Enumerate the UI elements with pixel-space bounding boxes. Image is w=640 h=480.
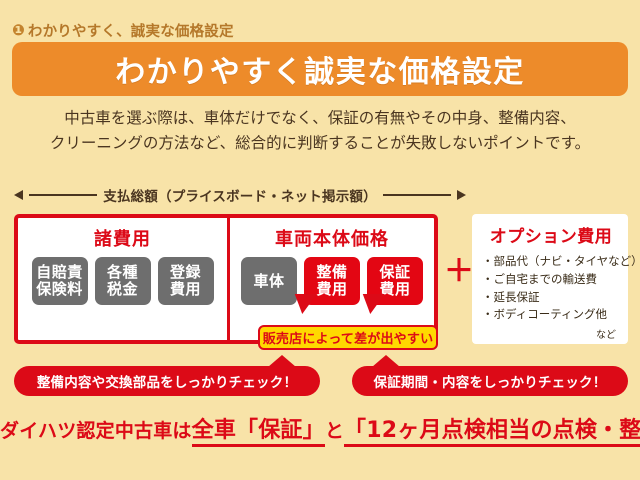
chip-line-1: 各種: [107, 264, 138, 281]
section-eyebrow-label: わかりやすく、誠実な価格設定: [28, 20, 234, 41]
bottom-conjunction: と: [325, 420, 344, 442]
maintenance-pointer-icon: [291, 294, 317, 314]
chip-line-1: 登録: [170, 264, 201, 281]
chip-line-2: 費用: [170, 281, 201, 298]
option-costs-list: ・部品代（ナビ・タイヤなど） ・ご自宅までの輸送費 ・延長保証 ・ボディコーティ…: [482, 253, 620, 324]
bottom-emphasis-warranty: 全車「保証」: [192, 418, 325, 447]
bottom-emphasis-inspection: 「12ヶ月点検相当の点検・整備」: [344, 418, 640, 447]
banner-pointer-icon: [372, 355, 400, 367]
chip-jibaiseki-insurance: 自賠責 保険料: [32, 257, 88, 305]
page-title: わかりやすく誠実な価格設定: [115, 47, 525, 91]
bottom-prefix: ダイハツ認定中古車は: [0, 420, 192, 442]
check-banner-maintenance: 整備内容や交換部品をしっかりチェック！: [14, 366, 320, 396]
chip-line-2: 税金: [107, 281, 138, 298]
intro-paragraph: 中古車を選ぶ際は、車体だけでなく、保証の有無やその中身、整備内容、 クリーニング…: [0, 106, 640, 156]
title-banner: わかりやすく誠実な価格設定: [12, 42, 628, 96]
intro-line-1: 中古車を選ぶ際は、車体だけでなく、保証の有無やその中身、整備内容、: [0, 106, 640, 131]
chip-line-1: 保証: [379, 264, 410, 281]
total-payment-arrow: 支払総額（プライスボード・ネット掲示額）: [14, 184, 466, 206]
arrow-right-head-icon: [457, 190, 466, 200]
chip-vehicle-body: 車体: [241, 257, 297, 305]
option-costs-card: オプション費用 ・部品代（ナビ・タイヤなど） ・ご自宅までの輸送費 ・延長保証 …: [472, 214, 628, 344]
section-number-badge: ❶: [12, 23, 25, 38]
infographic-page: ❶ わかりやすく、誠実な価格設定 わかりやすく誠実な価格設定 中古車を選ぶ際は、…: [0, 0, 640, 480]
chip-line-1: 車体: [253, 273, 284, 290]
option-costs-footnote: など: [482, 326, 620, 341]
check-banner-warranty: 保証期間・内容をしっかりチェック！: [352, 366, 628, 396]
arrow-rule-right: [383, 194, 451, 196]
section-eyebrow: ❶ わかりやすく、誠実な価格設定: [12, 20, 234, 41]
chip-various-taxes: 各種 税金: [95, 257, 151, 305]
dealer-variance-callout: 販売店によって差が出やすい: [258, 325, 438, 350]
option-costs-heading: オプション費用: [482, 222, 620, 247]
chip-line-2: 費用: [316, 281, 347, 298]
warranty-pointer-icon: [359, 294, 385, 314]
plus-icon: ＋: [444, 262, 466, 284]
list-item: ・延長保証: [482, 289, 620, 307]
vehicle-price-heading: 車両本体価格: [230, 225, 434, 251]
fees-heading: 諸費用: [18, 225, 227, 251]
dealer-variance-text: 販売店によって差が出やすい: [263, 328, 434, 347]
check-banner-maintenance-text: 整備内容や交換部品をしっかりチェック！: [37, 371, 297, 391]
chip-registration-fee: 登録 費用: [158, 257, 214, 305]
bottom-summary-line: ダイハツ認定中古車は全車「保証」と「12ヶ月点検相当の点検・整備」付き: [0, 412, 640, 444]
arrow-left-head-icon: [14, 190, 23, 200]
arrow-rule-left: [29, 194, 97, 196]
list-item: ・ボディコーティング他: [482, 306, 620, 324]
list-item: ・部品代（ナビ・タイヤなど）: [482, 253, 620, 271]
intro-line-2: クリーニングの方法など、総合的に判断することが失敗しないポイントです。: [0, 131, 640, 156]
fees-chip-row: 自賠責 保険料 各種 税金 登録 費用: [18, 257, 227, 305]
banner-pointer-icon: [268, 355, 296, 367]
vehicle-price-column: 車両本体価格 車体 整備 費用 保証 費用: [230, 218, 434, 340]
total-payment-label: 支払総額（プライスボード・ネット掲示額）: [103, 185, 377, 205]
fees-column: 諸費用 自賠責 保険料 各種 税金 登録 費用: [18, 218, 230, 340]
vehicle-chip-row: 車体 整備 費用 保証 費用: [230, 257, 434, 305]
list-item: ・ご自宅までの輸送費: [482, 271, 620, 289]
chip-line-2: 保険料: [36, 281, 83, 298]
check-banner-warranty-text: 保証期間・内容をしっかりチェック！: [374, 371, 607, 391]
chip-line-1: 整備: [316, 264, 347, 281]
chip-line-1: 自賠責: [36, 264, 83, 281]
